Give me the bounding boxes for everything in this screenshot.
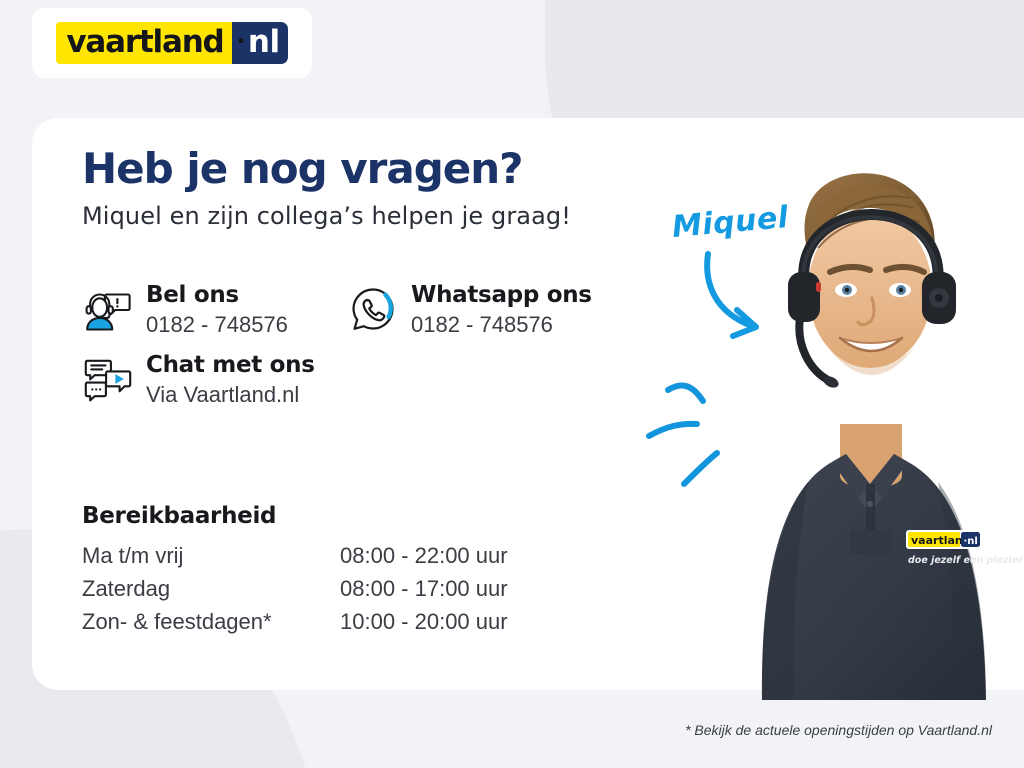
contact-whatsapp-value[interactable]: 0182 - 748576 bbox=[411, 311, 592, 339]
contact-whatsapp[interactable]: Whatsapp ons 0182 - 748576 bbox=[347, 281, 627, 339]
availability-time: 08:00 - 22:00 uur bbox=[340, 543, 508, 569]
page-title: Heb je nog vragen? bbox=[82, 146, 642, 192]
contact-whatsapp-title: Whatsapp ons bbox=[411, 282, 592, 308]
availability-row: Zon- & feestdagen* 10:00 - 20:00 uur bbox=[82, 609, 602, 635]
contact-call-title: Bel ons bbox=[146, 282, 239, 308]
chat-bubbles-icon bbox=[82, 353, 134, 405]
availability-row: Zaterdag 08:00 - 17:00 uur bbox=[82, 576, 602, 602]
contact-call[interactable]: Bel ons 0182 - 748576 bbox=[82, 281, 347, 339]
logo-wordmark: vaartland bbox=[66, 27, 223, 58]
availability-day: Ma t/m vrij bbox=[82, 543, 340, 569]
logo-tld: nl bbox=[248, 27, 280, 58]
vaartland-logo: vaartland · nl bbox=[56, 22, 287, 64]
contact-chat-value[interactable]: Via Vaartland.nl bbox=[146, 381, 315, 409]
logo-navy-block: · nl bbox=[232, 22, 288, 64]
contact-row-top: Bel ons 0182 - 748576 Whatsapp ons 0182 … bbox=[82, 281, 662, 339]
decorative-dashes-icon bbox=[645, 368, 765, 498]
curved-arrow-icon bbox=[700, 248, 810, 358]
contact-chat[interactable]: Chat met ons Via Vaartland.nl bbox=[82, 351, 482, 409]
headset-person-icon bbox=[82, 283, 134, 335]
contact-methods: Bel ons 0182 - 748576 Whatsapp ons 0182 … bbox=[82, 281, 662, 409]
availability-time: 10:00 - 20:00 uur bbox=[340, 609, 508, 635]
logo-separator-dot: · bbox=[236, 25, 248, 56]
hero-text-block: Heb je nog vragen? Miquel en zijn colleg… bbox=[82, 146, 642, 230]
footnote: * Bekijk de actuele openingstijden op Va… bbox=[685, 722, 992, 738]
svg-text:·nl: ·nl bbox=[964, 536, 978, 547]
availability-day: Zaterdag bbox=[82, 576, 340, 602]
svg-text:doe jezelf een plezier: doe jezelf een plezier bbox=[908, 555, 1024, 566]
availability-block: Bereikbaarheid Ma t/m vrij 08:00 - 22:00… bbox=[82, 503, 602, 642]
whatsapp-icon bbox=[347, 283, 399, 335]
availability-heading: Bereikbaarheid bbox=[82, 503, 602, 529]
availability-time: 08:00 - 17:00 uur bbox=[340, 576, 508, 602]
brand-logo-card[interactable]: vaartland · nl bbox=[32, 8, 312, 78]
page-subtitle: Miquel en zijn collega’s helpen je graag… bbox=[82, 202, 642, 230]
availability-day: Zon- & feestdagen* bbox=[82, 609, 340, 635]
contact-row-bottom: Chat met ons Via Vaartland.nl bbox=[82, 339, 662, 409]
contact-call-value[interactable]: 0182 - 748576 bbox=[146, 311, 288, 339]
contact-chat-title: Chat met ons bbox=[146, 352, 315, 378]
availability-row: Ma t/m vrij 08:00 - 22:00 uur bbox=[82, 543, 602, 569]
logo-yellow-block: vaartland bbox=[56, 22, 231, 64]
